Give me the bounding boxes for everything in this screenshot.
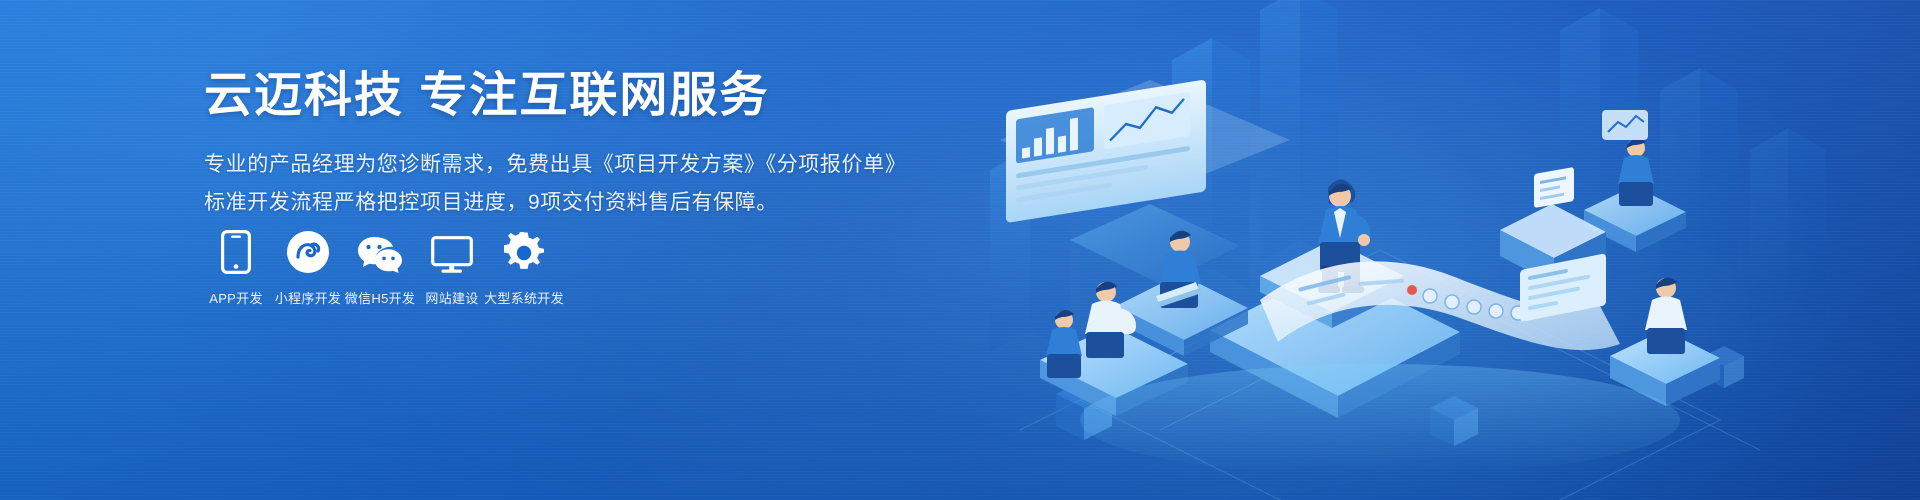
monitor-icon (429, 228, 475, 274)
hero-banner: 云迈科技 专注互联网服务 专业的产品经理为您诊断需求，免费出具《项目开发方案》《… (0, 0, 1920, 500)
subtitle-line-1: 专业的产品经理为您诊断需求，免费出具《项目开发方案》《分项报价单》 (204, 147, 964, 183)
wechat-icon (357, 228, 403, 274)
banner-subtitle: 专业的产品经理为您诊断需求，免费出具《项目开发方案》《分项报价单》 标准开发流程… (204, 147, 964, 221)
subtitle-line-2: 标准开发流程严格把控项目进度，9项交付资料售后有保障。 (204, 185, 964, 221)
service-item-website[interactable]: 网站建设 (416, 228, 488, 307)
service-item-miniprogram[interactable]: 小程序开发 (272, 228, 344, 307)
service-item-wechat-h5[interactable]: 微信H5开发 (344, 228, 416, 307)
gear-icon (501, 228, 547, 274)
service-label: APP开发 (209, 288, 263, 307)
service-item-app[interactable]: APP开发 (200, 228, 272, 307)
mobile-phone-icon (213, 228, 259, 274)
service-label: 大型系统开发 (484, 288, 564, 307)
person-on-plinth-right (1610, 278, 1720, 406)
service-list: APP开发 小程序开发 (200, 228, 560, 307)
service-item-large-system[interactable]: 大型系统开发 (488, 228, 560, 307)
hero-illustration (960, 0, 1920, 500)
service-label: 网站建设 (425, 288, 478, 307)
page-title: 云迈科技 专注互联网服务 (204, 68, 964, 125)
service-label: 小程序开发 (275, 288, 342, 307)
service-label: 微信H5开发 (345, 288, 415, 307)
mini-program-icon (285, 228, 331, 274)
banner-copy-block: 云迈科技 专注互联网服务 专业的产品经理为您诊断需求，免费出具《项目开发方案》《… (204, 68, 964, 223)
